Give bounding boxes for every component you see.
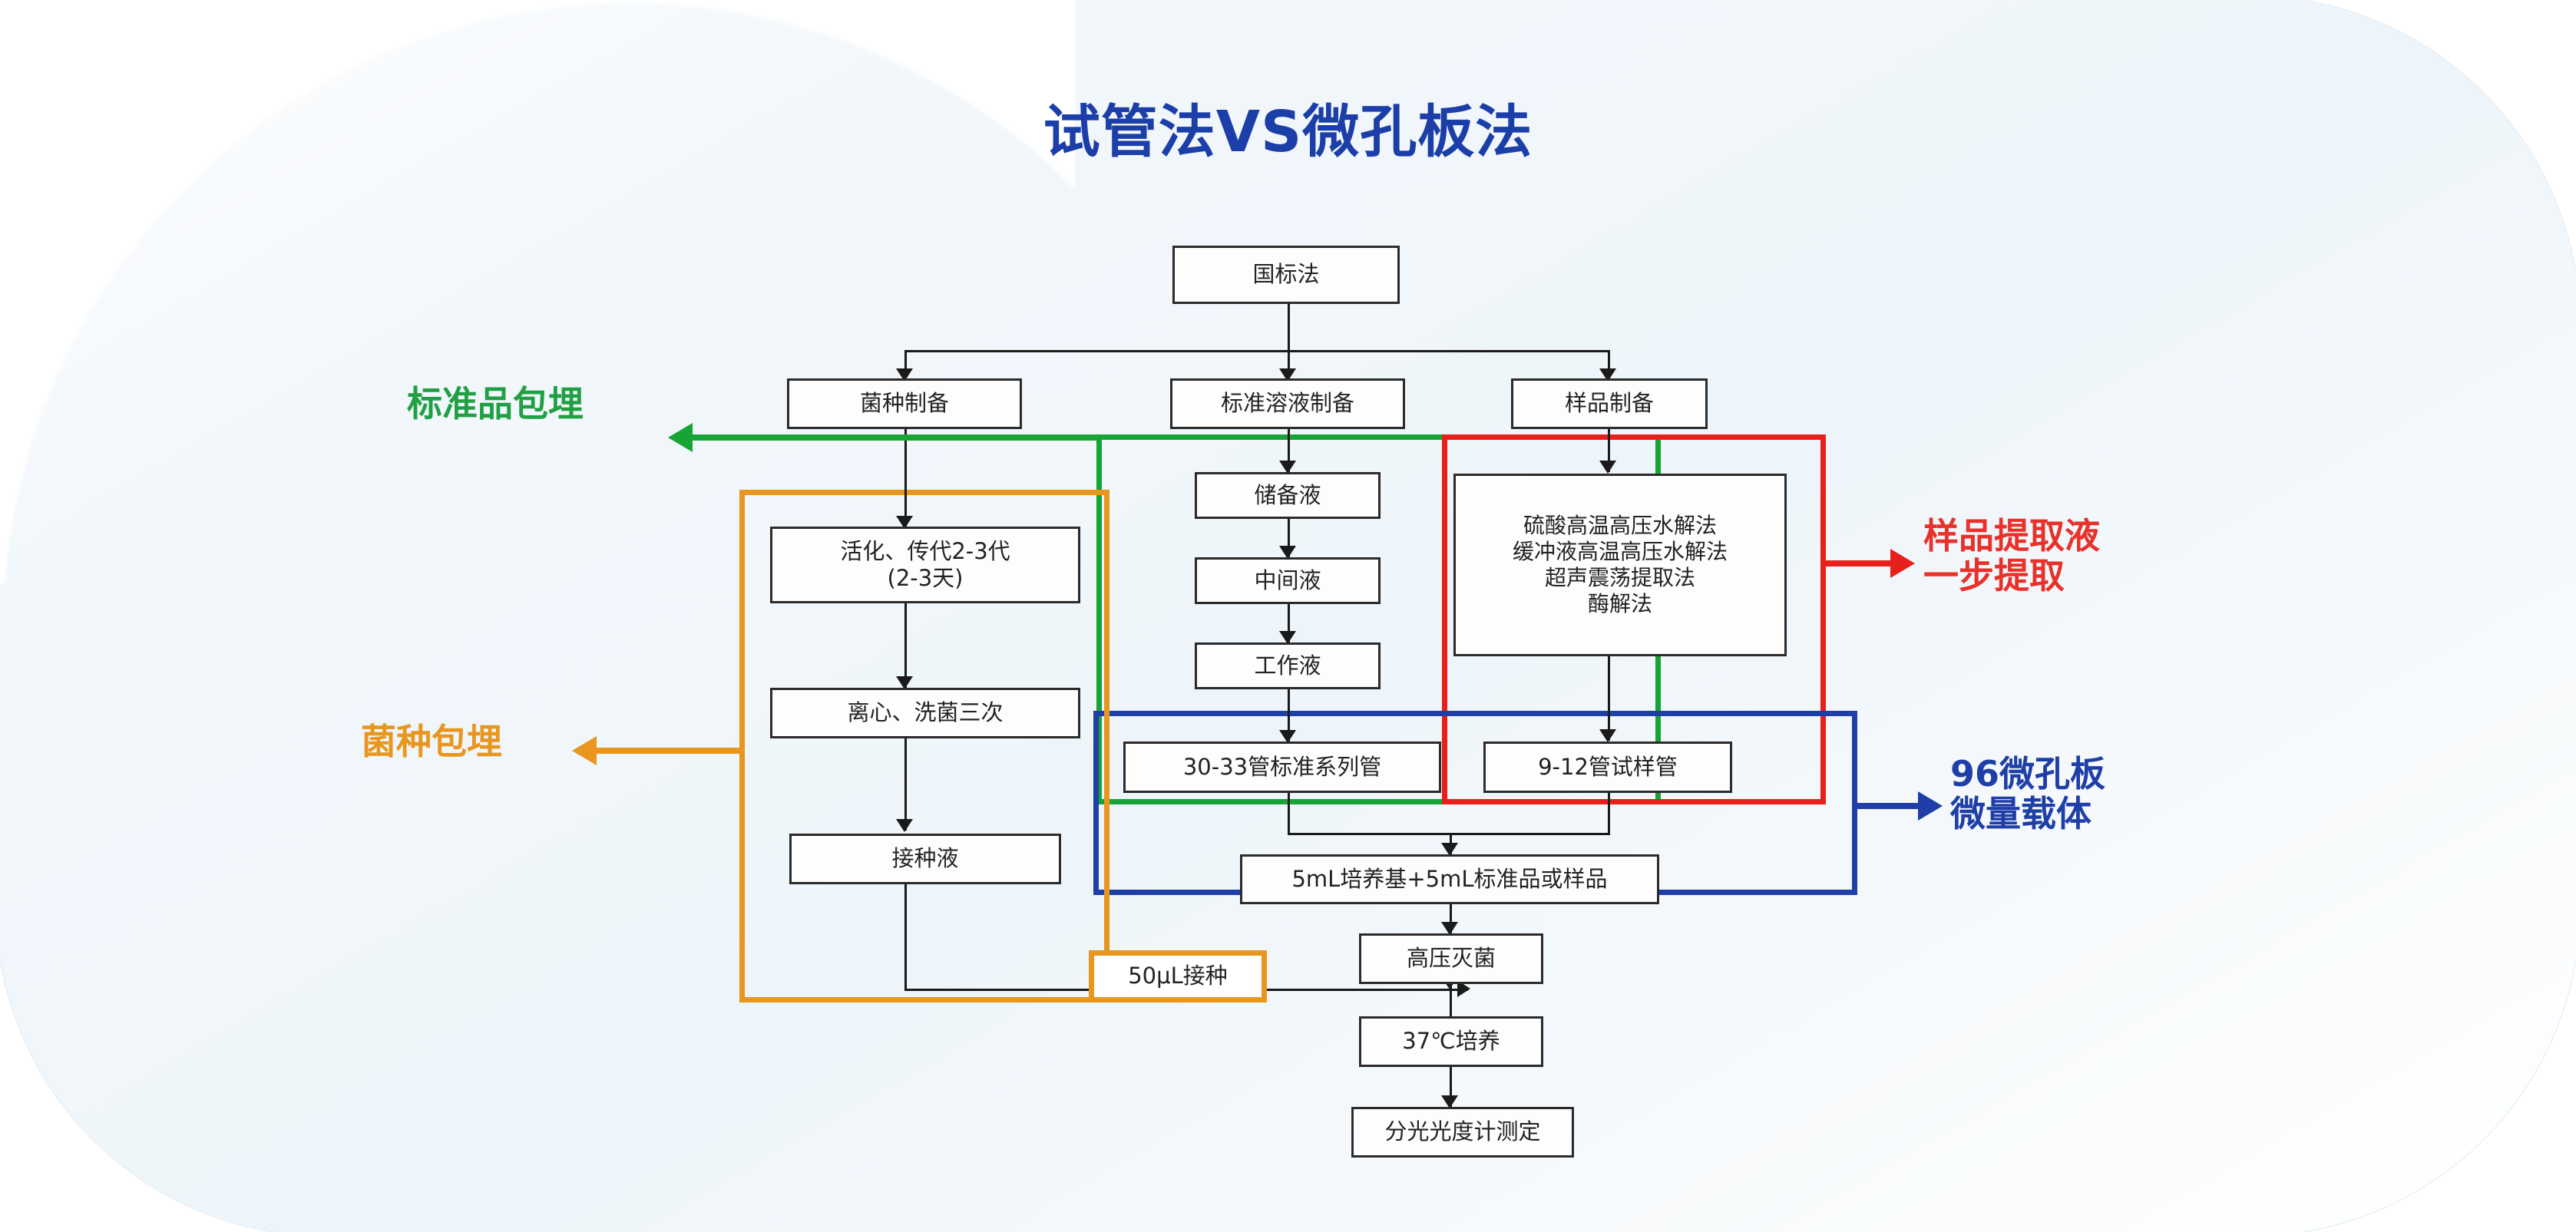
connector-50ul-to-incubate xyxy=(1267,989,1468,991)
callout-label-strain-encapsulation: 菌种包埋 xyxy=(361,722,568,761)
node-extraction-methods[interactable]: 硫酸高温高压水解法 缓冲液高温高压水解法 超声震荡提取法 酶解法 xyxy=(1453,474,1787,656)
node-media-mix[interactable]: 5mL培养基+5mL标准品或样品 xyxy=(1240,854,1659,904)
node-bacteria-prep[interactable]: 菌种制备 xyxy=(787,378,1022,429)
node-centrifuge-wash[interactable]: 离心、洗菌三次 xyxy=(770,688,1080,738)
connector-bacteria-activate xyxy=(904,428,907,527)
connector-inoculum-right xyxy=(904,989,1095,991)
arrow-extraction-sampletubes xyxy=(1599,729,1616,742)
connector-extraction-sampletubes xyxy=(1608,656,1610,741)
callout-line-green xyxy=(691,434,1101,441)
connector-activate-centrifuge xyxy=(904,603,907,688)
connector-root-down xyxy=(1288,303,1290,351)
diagram-canvas: 试管法VS微孔板法 国标法 菌种制备 xyxy=(0,0,2576,1232)
connector-merge-bar xyxy=(1288,833,1610,835)
node-stock-solution[interactable]: 储备液 xyxy=(1195,472,1381,519)
node-standard-tubes[interactable]: 30-33管标准系列管 xyxy=(1123,742,1441,793)
arrow-sample-extraction xyxy=(1599,461,1616,474)
node-incubate[interactable]: 37℃培养 xyxy=(1359,1016,1543,1067)
node-root[interactable]: 国标法 xyxy=(1172,246,1400,304)
node-sterilize[interactable]: 高压灭菌 xyxy=(1359,933,1543,984)
callout-tip-green xyxy=(668,423,693,452)
callout-tip-orange xyxy=(572,736,597,765)
connector-centrifuge-inoculum xyxy=(904,738,907,831)
callout-tip-red xyxy=(1890,549,1915,578)
node-intermediate-solution[interactable]: 中间液 xyxy=(1195,557,1381,604)
node-sample-tubes[interactable]: 9-12管试样管 xyxy=(1483,742,1732,793)
arrow-centrifuge-inoculum xyxy=(896,819,913,832)
callout-label-microplate: 96微孔板 微量载体 xyxy=(1950,754,2257,834)
node-inoculum[interactable]: 接种液 xyxy=(789,834,1061,884)
node-activation[interactable]: 活化、传代2-3代 (2-3天) xyxy=(770,527,1080,603)
callout-line-orange xyxy=(595,748,742,754)
node-sample-prep[interactable]: 样品制备 xyxy=(1511,378,1708,429)
connector-bus xyxy=(904,350,1609,352)
callout-label-sample-extract: 样品提取液 一步提取 xyxy=(1923,516,2246,596)
connector-sampletubes-down xyxy=(1608,793,1610,833)
node-spectrophotometer[interactable]: 分光光度计测定 xyxy=(1351,1107,1574,1158)
callout-line-red xyxy=(1823,560,1892,566)
page-title: 试管法VS微孔板法 xyxy=(0,86,2576,168)
connector-inoculum-down xyxy=(904,884,907,989)
connector-stdtubes-down xyxy=(1288,793,1290,833)
callout-tip-blue xyxy=(1918,791,1943,821)
callout-line-blue xyxy=(1854,803,1920,809)
node-working-solution[interactable]: 工作液 xyxy=(1195,642,1381,689)
node-standard-prep[interactable]: 标准溶液制备 xyxy=(1170,378,1405,429)
callout-label-standard-encapsulation: 标准品包埋 xyxy=(407,384,660,424)
node-inoculate-50ul[interactable]: 50μL接种 xyxy=(1089,950,1267,1002)
